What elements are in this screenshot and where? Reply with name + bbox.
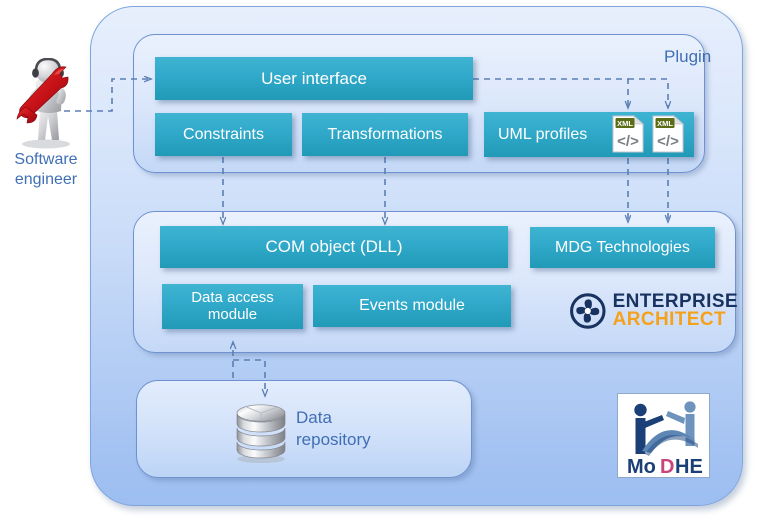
xml-file-icon: XML </>	[612, 115, 644, 153]
enterprise-architect-logo-line2: ARCHITECT	[613, 311, 738, 329]
data-access-module-label: Data access module	[170, 290, 295, 324]
enterprise-architect-logo-mark	[570, 293, 606, 329]
software-engineer-figure-with-wrench-icon	[2, 58, 88, 150]
com-object-box[interactable]: COM object (DLL)	[160, 226, 508, 268]
database-cylinder-icon	[232, 398, 290, 464]
diagram-canvas: Software engineer Plugin User interface …	[0, 0, 778, 518]
plugin-panel-label: Plugin	[664, 47, 711, 67]
software-engineer-label: Software engineer	[0, 150, 92, 190]
constraints-label: Constraints	[183, 126, 264, 144]
user-interface-label: User interface	[261, 69, 367, 88]
svg-text:XML: XML	[657, 119, 673, 128]
constraints-box[interactable]: Constraints	[155, 113, 292, 156]
mdg-technologies-label: MDG Technologies	[555, 239, 690, 257]
data-repository-label: Data repository	[296, 407, 416, 451]
svg-text:HE: HE	[675, 456, 703, 477]
transformations-box[interactable]: Transformations	[302, 113, 468, 156]
data-access-module-box[interactable]: Data access module	[162, 284, 303, 329]
com-object-label: COM object (DLL)	[266, 237, 403, 256]
svg-text:D: D	[660, 456, 674, 477]
svg-text:XML: XML	[617, 119, 633, 128]
events-module-label: Events module	[359, 297, 465, 315]
events-module-box[interactable]: Events module	[313, 285, 511, 327]
software-engineer-label-line1: Software	[0, 150, 92, 170]
uml-profiles-label: UML profiles	[498, 126, 587, 144]
modhe-logo-mark: Mo D HE	[618, 394, 709, 477]
svg-text:Mo: Mo	[627, 456, 656, 477]
enterprise-architect-logo: ENTERPRISE ARCHITECT	[570, 288, 738, 334]
svg-text:</>: </>	[657, 133, 679, 150]
transformations-label: Transformations	[328, 126, 443, 144]
data-repository-label-line1: Data	[296, 407, 416, 429]
mdg-technologies-box[interactable]: MDG Technologies	[530, 227, 715, 268]
svg-text:</>: </>	[617, 133, 639, 150]
user-interface-box[interactable]: User interface	[155, 57, 473, 100]
modhe-logo: Mo D HE	[617, 393, 710, 478]
software-engineer-label-line2: engineer	[0, 170, 92, 190]
data-repository-label-line2: repository	[296, 429, 416, 451]
xml-file-icon: XML </>	[652, 115, 684, 153]
